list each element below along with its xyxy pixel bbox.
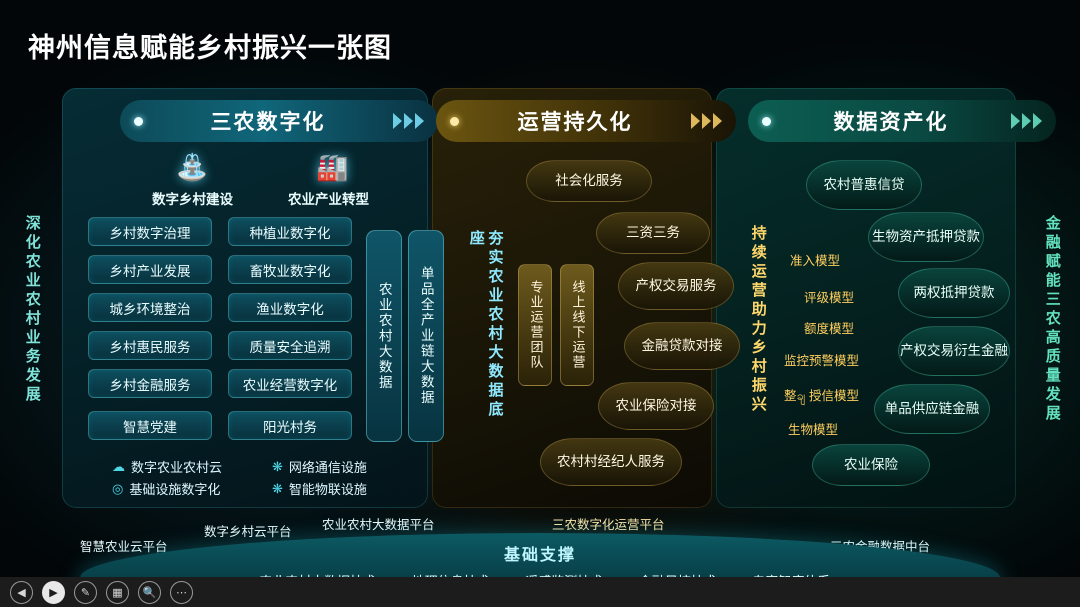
pill-village-governance[interactable]: 乡村数字治理 <box>88 217 212 246</box>
base-title: 基础支撑 <box>80 541 1000 565</box>
cloud-icon: ☁ <box>112 459 125 475</box>
icon-label-industry-transform: 农业产业转型 <box>288 188 369 208</box>
chevron-right-icon <box>691 113 722 129</box>
header-ribbon-digital: 三农数字化 <box>120 100 438 142</box>
capsule-insurance-docking[interactable]: 农业保险对接 <box>598 382 714 430</box>
side-label-agriculture-development: 深化农业农村业务发展 <box>22 215 41 445</box>
capsule-property-trade[interactable]: 产权交易服务 <box>618 262 734 310</box>
platform-label-operation-platform: 三农数字化运营平台 <box>552 514 665 533</box>
legend-network: ❋ 网络通信设施 <box>272 457 367 476</box>
taskbar-pen-button[interactable]: ✎ <box>74 581 97 604</box>
diagram-canvas: 神州信息赋能乡村振兴一张图 三农数字化 运营持久化 数据资产化 深化农业农村业务… <box>0 0 1080 607</box>
platform-label-bigdata-platform: 农业农村大数据平台 <box>322 514 435 533</box>
capsule-loan-docking[interactable]: 金融贷款对接 <box>624 322 740 370</box>
model-label-bio: 生物模型 <box>788 419 838 438</box>
model-label-monitor: 监控预警模型 <box>784 350 859 369</box>
taskbar-prev-button[interactable]: ◀ <box>10 581 33 604</box>
pill-fishery-digital[interactable]: 渔业数字化 <box>228 293 352 322</box>
legend-label-cloud: 数字农业农村云 <box>131 457 222 476</box>
legend-infrastructure: ◎ 基础设施数字化 <box>112 479 220 498</box>
pill-rural-finance[interactable]: 乡村金融服务 <box>88 369 212 398</box>
capsule-three-assets[interactable]: 三资三务 <box>596 212 710 254</box>
network-icon: ❋ <box>272 459 283 475</box>
pill-environment[interactable]: 城乡环境整治 <box>88 293 212 322</box>
chevron-right-icon <box>1011 113 1042 129</box>
taskbar-search-button[interactable]: 🔍 <box>138 581 161 604</box>
taskbar: ◀ ▶ ✎ ▦ 🔍 ⋯ <box>0 577 1080 607</box>
column-header-operation: 运营持久化 <box>459 106 691 136</box>
capsule-bio-asset-loan[interactable]: 生物资产抵押贷款 <box>868 212 984 262</box>
taskbar-more-button[interactable]: ⋯ <box>170 581 193 604</box>
capsule-social-service[interactable]: 社会化服务 <box>526 160 652 202</box>
bullet-dot-icon <box>450 117 459 126</box>
legend-label-network: 网络通信设施 <box>289 457 367 476</box>
infra-icon: ◎ <box>112 481 123 497</box>
digital-village-icon: ⛲ <box>176 152 208 183</box>
taskbar-grid-button[interactable]: ▦ <box>106 581 129 604</box>
side-label-operation-revitalization: 持续运营助力乡村振兴 <box>748 225 767 435</box>
bullet-dot-icon <box>134 117 143 126</box>
model-label-access: 准入模型 <box>790 250 840 269</box>
icon-label-digital-village: 数字乡村建设 <box>152 188 233 208</box>
capsule-property-derivative[interactable]: 产权交易衍生金融 <box>898 326 1010 376</box>
header-ribbon-data-asset: 数据资产化 <box>748 100 1056 142</box>
legend-iot: ❋ 智能物联设施 <box>272 479 367 498</box>
pill-quality-trace[interactable]: 质量安全追溯 <box>228 331 352 360</box>
side-label-finance-empowerment: 金融赋能三农高质量发展 <box>1042 215 1061 445</box>
cylinder-rural-bigdata: 农业农村大数据 <box>366 230 402 442</box>
pill-planting-digital[interactable]: 种植业数字化 <box>228 217 352 246</box>
legend-label-infrastructure: 基础设施数字化 <box>129 479 220 498</box>
bar-online-offline: 线上线下运营 <box>560 264 594 386</box>
taskbar-next-button[interactable]: ▶ <box>42 581 65 604</box>
pill-smart-party[interactable]: 智慧党建 <box>88 411 212 440</box>
header-ribbon-operation: 运营持久化 <box>436 100 736 142</box>
capsule-agri-insurance[interactable]: 农业保险 <box>812 444 930 486</box>
bar-operation-team: 专业运营团队 <box>518 264 552 386</box>
model-label-credit: 整ချ 授信模型 <box>784 385 859 407</box>
capsule-two-rights-loan[interactable]: 两权抵押贷款 <box>898 268 1010 318</box>
capsule-inclusive-credit[interactable]: 农村普惠信贷 <box>806 160 922 210</box>
page-title: 神州信息赋能乡村振兴一张图 <box>28 26 392 65</box>
chevron-right-icon <box>393 113 424 129</box>
side-label-bigdata-foundation: 夯实农业农村大数据底座 <box>466 230 504 430</box>
model-label-rating: 评级模型 <box>804 287 854 306</box>
column-header-data-asset: 数据资产化 <box>771 106 1011 136</box>
capsule-rural-broker[interactable]: 农村村经纪人服务 <box>540 438 682 486</box>
pill-operation-digital[interactable]: 农业经营数字化 <box>228 369 352 398</box>
pill-livestock-digital[interactable]: 畜牧业数字化 <box>228 255 352 284</box>
pill-public-service[interactable]: 乡村惠民服务 <box>88 331 212 360</box>
platform-label-digital-village-cloud: 数字乡村云平台 <box>204 521 292 540</box>
cylinder-supplychain-bigdata: 单品全产业链大数据 <box>408 230 444 442</box>
column-header-digital: 三农数字化 <box>143 106 393 136</box>
pill-sunshine-affairs[interactable]: 阳光村务 <box>228 411 352 440</box>
model-label-limit: 额度模型 <box>804 318 854 337</box>
capsule-supplychain-finance[interactable]: 单品供应链金融 <box>874 384 990 434</box>
bullet-dot-icon <box>762 117 771 126</box>
legend-label-iot: 智能物联设施 <box>289 479 367 498</box>
industry-transform-icon: 🏭 <box>316 152 348 183</box>
pill-village-industry[interactable]: 乡村产业发展 <box>88 255 212 284</box>
iot-icon: ❋ <box>272 481 283 497</box>
legend-cloud: ☁ 数字农业农村云 <box>112 457 222 476</box>
